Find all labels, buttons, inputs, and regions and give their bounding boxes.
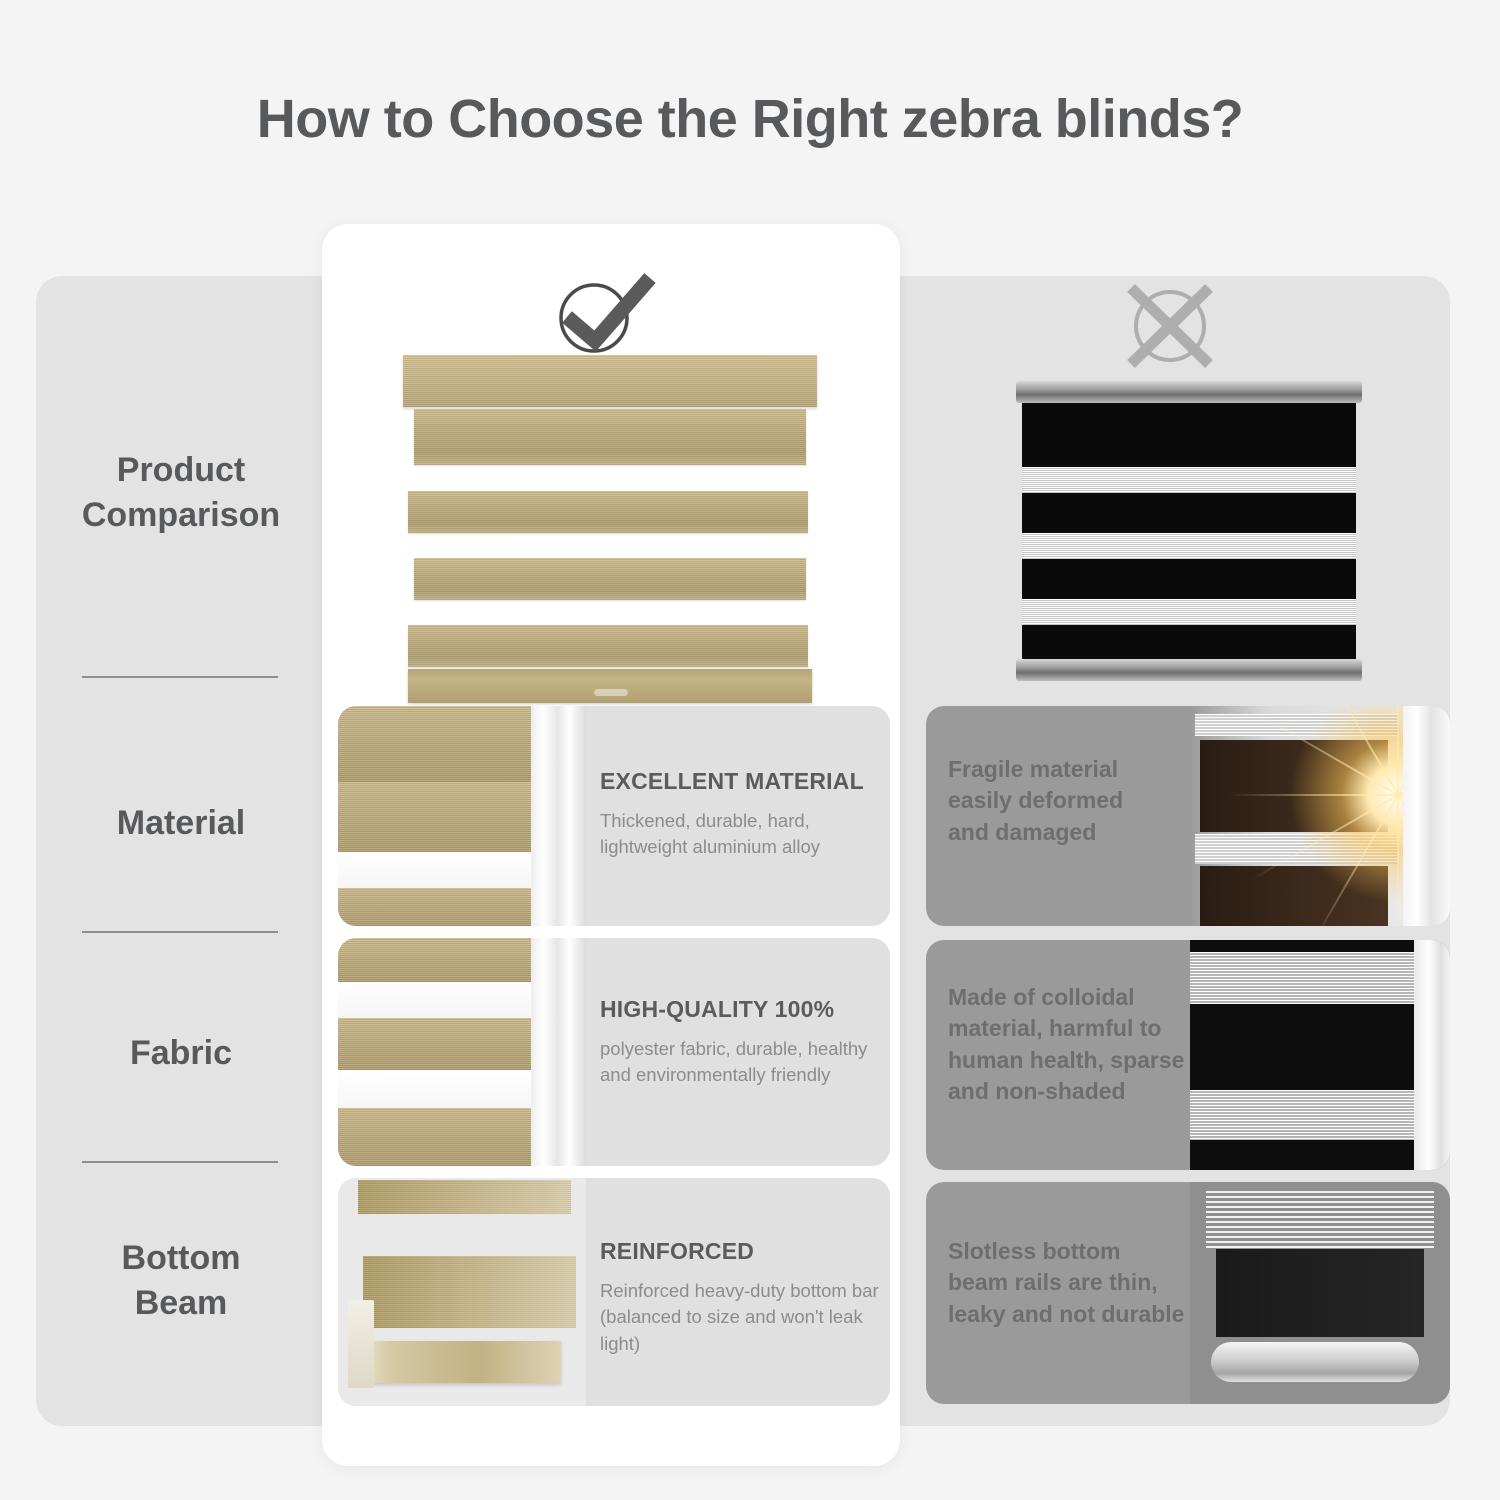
feature-heading: REINFORCED — [600, 1238, 882, 1265]
row-divider-1 — [82, 676, 278, 678]
blind-slat — [414, 558, 806, 600]
blind-slat — [408, 491, 808, 533]
bad-fabric-image — [1190, 940, 1450, 1170]
row-label-line-2: Beam — [40, 1281, 322, 1326]
infographic-root: How to Choose the Right zebra blinds? Pr… — [0, 0, 1500, 1500]
good-feature-card-fabric: HIGH-QUALITY 100% polyester fabric, dura… — [338, 938, 890, 1166]
row-label-line-1: Bottom — [40, 1236, 322, 1281]
bad-feature-text: Fragile material easily deformed and dam… — [948, 754, 1178, 848]
bad-column: Fragile material easily deformed and dam… — [900, 276, 1450, 1426]
bad-material-image — [1190, 706, 1450, 926]
row-label-line-1: Fabric — [40, 1031, 322, 1076]
good-bottom-beam-image — [338, 1178, 586, 1406]
row-label-bottom-beam: Bottom Beam — [40, 1236, 322, 1326]
feature-heading: HIGH-QUALITY 100% — [600, 996, 882, 1023]
bad-feature-card-bottom-beam: Slotless bottom beam rails are thin, lea… — [926, 1182, 1450, 1404]
bad-bottom-beam-image — [1190, 1182, 1450, 1404]
row-label-line-1: Material — [40, 801, 322, 846]
feature-heading: EXCELLENT MATERIAL — [600, 768, 876, 795]
x-circle-icon — [1115, 280, 1225, 372]
headrail — [403, 355, 817, 407]
bad-feature-text: Made of colloidal material, harmful to h… — [948, 982, 1186, 1107]
good-feature-card-material: EXCELLENT MATERIAL Thickened, durable, h… — [338, 706, 890, 926]
good-fabric-image — [338, 938, 586, 1166]
blind-body — [1022, 403, 1356, 659]
feature-body: Reinforced heavy-duty bottom bar (balanc… — [600, 1278, 882, 1357]
row-divider-2 — [82, 931, 278, 933]
top-rail — [1016, 381, 1362, 403]
good-column: EXCELLENT MATERIAL Thickened, durable, h… — [322, 224, 900, 1466]
page-title: How to Choose the Right zebra blinds? — [0, 88, 1500, 150]
row-divider-3 — [82, 1161, 278, 1163]
blind-slat — [414, 409, 806, 465]
good-product-image — [400, 355, 820, 703]
row-label-material: Material — [40, 801, 322, 846]
feature-body: Thickened, durable, hard, lightweight al… — [600, 808, 876, 861]
row-label-line-1: Product — [40, 448, 322, 493]
feature-body: polyester fabric, durable, healthy and e… — [600, 1036, 882, 1089]
bad-feature-text: Slotless bottom beam rails are thin, lea… — [948, 1236, 1188, 1330]
bad-feature-card-material: Fragile material easily deformed and dam… — [926, 706, 1450, 926]
row-label-column: Product Comparison Material Fabric Botto… — [40, 276, 322, 1426]
good-material-text: EXCELLENT MATERIAL Thickened, durable, h… — [600, 706, 876, 926]
good-fabric-text: HIGH-QUALITY 100% polyester fabric, dura… — [600, 938, 882, 1166]
check-circle-icon — [550, 270, 660, 360]
bottom-rail — [1016, 659, 1362, 681]
bottom-bar — [408, 669, 812, 703]
good-feature-card-bottom-beam: REINFORCED Reinforced heavy-duty bottom … — [338, 1178, 890, 1406]
bad-product-image — [1016, 381, 1362, 681]
bad-feature-card-fabric: Made of colloidal material, harmful to h… — [926, 940, 1450, 1170]
blind-slat — [408, 625, 808, 667]
row-label-product-comparison: Product Comparison — [40, 448, 322, 538]
row-label-fabric: Fabric — [40, 1031, 322, 1076]
good-bottom-beam-text: REINFORCED Reinforced heavy-duty bottom … — [600, 1178, 882, 1406]
row-label-line-2: Comparison — [40, 493, 322, 538]
good-material-image — [338, 706, 586, 926]
